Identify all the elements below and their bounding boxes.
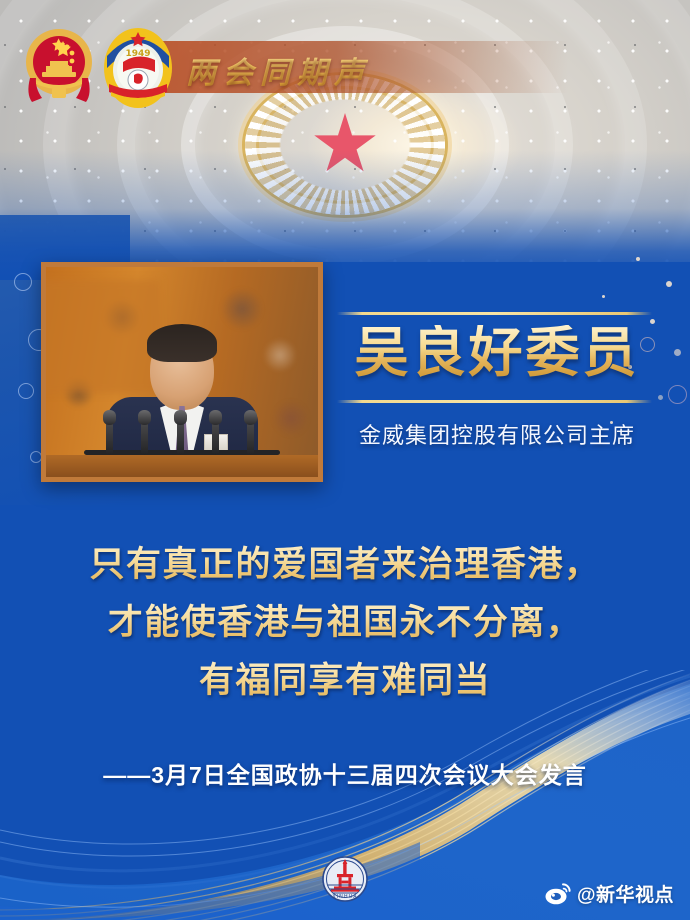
speaker-role: 金威集团控股有限公司主席 — [337, 418, 657, 450]
poster-root: 1949 两会同期声 吴良好委员 金威集团控股有限公司主席 只有真正的爱国者来治… — [0, 0, 690, 920]
speaker-name: 吴良好委员 — [337, 325, 657, 382]
cppcc-year-text: 1949 — [125, 49, 150, 59]
speaker-photo — [41, 262, 323, 482]
quote-line: 有福同享有难同当 — [0, 652, 690, 710]
national-emblem-icon — [22, 26, 96, 106]
quote-line: 只有真正的爱国者来治理香港， — [0, 536, 690, 594]
name-divider-top — [337, 312, 652, 315]
cppcc-emblem-icon: 1949 — [101, 26, 175, 110]
weibo-handle-text: @新华视点 — [577, 880, 674, 907]
quote-line: 才能使香港与祖国永不分离， — [0, 594, 690, 652]
quote-attribution: ——3月7日全国政协十三届四次会议大会发言 — [0, 756, 690, 790]
header-title: 两会同期声 — [186, 48, 371, 92]
name-divider-bottom — [337, 400, 652, 403]
quote-block: 只有真正的爱国者来治理香港， 才能使香港与祖国永不分离， 有福同享有难同当 — [0, 536, 690, 710]
header-badge: 1949 两会同期声 — [0, 0, 400, 120]
ceiling-fade-overlay — [0, 150, 690, 280]
xinhua-logo: XINHUA — [321, 855, 369, 903]
weibo-handle-group[interactable]: @新华视点 — [545, 880, 674, 907]
weibo-icon[interactable] — [545, 883, 571, 905]
svg-text:XINHUA: XINHUA — [332, 894, 357, 900]
